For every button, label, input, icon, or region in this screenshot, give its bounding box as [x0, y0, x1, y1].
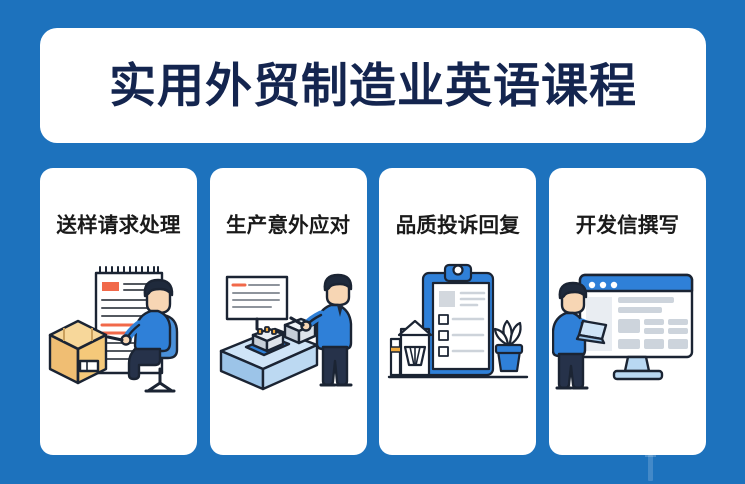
course-card-row: 送样请求处理 — [40, 168, 706, 455]
course-card-sample-request[interactable]: 送样请求处理 — [40, 168, 197, 455]
card-title-2: 生产意外应对 — [226, 216, 350, 237]
poster-root: 实用外贸制造业英语课程 送样请求处理 — [0, 0, 745, 484]
sample-request-illustration — [40, 255, 197, 405]
card-title-3: 品质投诉回复 — [396, 216, 520, 237]
course-card-outreach-email[interactable]: 开发信撰写 — [549, 168, 706, 455]
outreach-email-illustration — [549, 255, 706, 405]
quality-complaint-illustration — [379, 255, 536, 405]
course-card-production-incident[interactable]: 生产意外应对 — [210, 168, 367, 455]
card-title-1: 送样请求处理 — [56, 216, 180, 237]
page-title: 实用外贸制造业英语课程 — [109, 62, 637, 109]
header-card: 实用外贸制造业英语课程 — [40, 28, 706, 143]
production-incident-illustration — [210, 255, 367, 405]
watermark-mark — [648, 455, 653, 481]
course-card-quality-complaint[interactable]: 品质投诉回复 — [379, 168, 536, 455]
card-title-4: 开发信撰写 — [576, 216, 680, 237]
